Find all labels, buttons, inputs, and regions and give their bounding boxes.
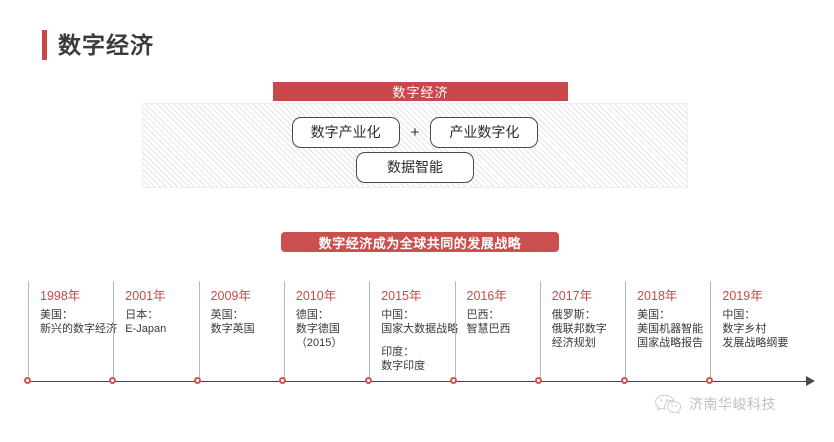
timeline-marker-dot[interactable]	[365, 377, 372, 384]
timeline-marker-dot[interactable]	[194, 377, 201, 384]
timeline-separator	[284, 281, 285, 381]
timeline-year-label: 1998年	[40, 285, 80, 304]
timeline-year-label: 2001年	[125, 285, 165, 304]
timeline-marker-dot[interactable]	[24, 377, 31, 384]
timeline-separator	[369, 281, 370, 381]
timeline-marker-dot[interactable]	[450, 377, 457, 384]
timeline-separator	[710, 281, 711, 381]
timeline-marker-dot[interactable]	[621, 377, 628, 384]
concept-body: 数字产业化 + 产业数字化 数据智能	[142, 103, 688, 188]
concept-pill-digital-industrialization: 数字产业化	[292, 117, 400, 148]
timeline-separator	[113, 281, 114, 381]
timeline-year-label: 2019年	[722, 285, 762, 304]
page-title: 数字经济	[58, 34, 154, 57]
strategy-banner: 数字经济成为全球共同的发展战略	[281, 232, 559, 252]
title-accent-bar	[42, 30, 47, 60]
concept-row-primary: 数字产业化 + 产业数字化	[143, 117, 687, 148]
timeline-year-label: 2010年	[296, 285, 336, 304]
timeline-marker-dot[interactable]	[279, 377, 286, 384]
timeline-year-label: 2015年	[381, 285, 421, 304]
timeline-year-label: 2018年	[637, 285, 677, 304]
timeline-entry-list: 中国：数字乡村发展战略纲要	[722, 308, 808, 359]
concept-pill-data-intelligence: 数据智能	[356, 152, 474, 183]
watermark-text: 济南华峻科技	[689, 394, 776, 414]
timeline-marker-dot[interactable]	[535, 377, 542, 384]
page-title-block: 数字经济	[42, 30, 154, 60]
timeline-entry: 中国：数字乡村发展战略纲要	[722, 308, 808, 350]
timeline-marker-dot[interactable]	[706, 377, 713, 384]
timeline-entry-line: 发展战略纲要	[722, 336, 808, 350]
watermark: 济南华峻科技	[653, 392, 776, 416]
timeline: 1998年美国：新兴的数字经济2001年日本：E-Japan2009年英国：数字…	[0, 278, 834, 393]
concept-row-secondary: 数据智能	[143, 152, 687, 183]
wechat-icon	[653, 392, 683, 416]
timeline-year-label: 2017年	[552, 285, 592, 304]
timeline-separator	[199, 281, 200, 381]
concept-header: 数字经济	[273, 82, 568, 101]
timeline-entry-line: 中国：	[722, 308, 808, 322]
concept-pill-industrial-digitalization: 产业数字化	[430, 117, 538, 148]
timeline-arrow-icon	[806, 376, 815, 386]
timeline-entry-line: 数字乡村	[722, 322, 808, 336]
plus-icon: +	[411, 124, 420, 141]
timeline-separator	[28, 281, 29, 381]
timeline-year-label: 2009年	[211, 285, 251, 304]
timeline-separator	[540, 281, 541, 381]
timeline-separator	[625, 281, 626, 381]
timeline-year-label: 2016年	[467, 285, 507, 304]
timeline-marker-dot[interactable]	[109, 377, 116, 384]
timeline-separator	[455, 281, 456, 381]
